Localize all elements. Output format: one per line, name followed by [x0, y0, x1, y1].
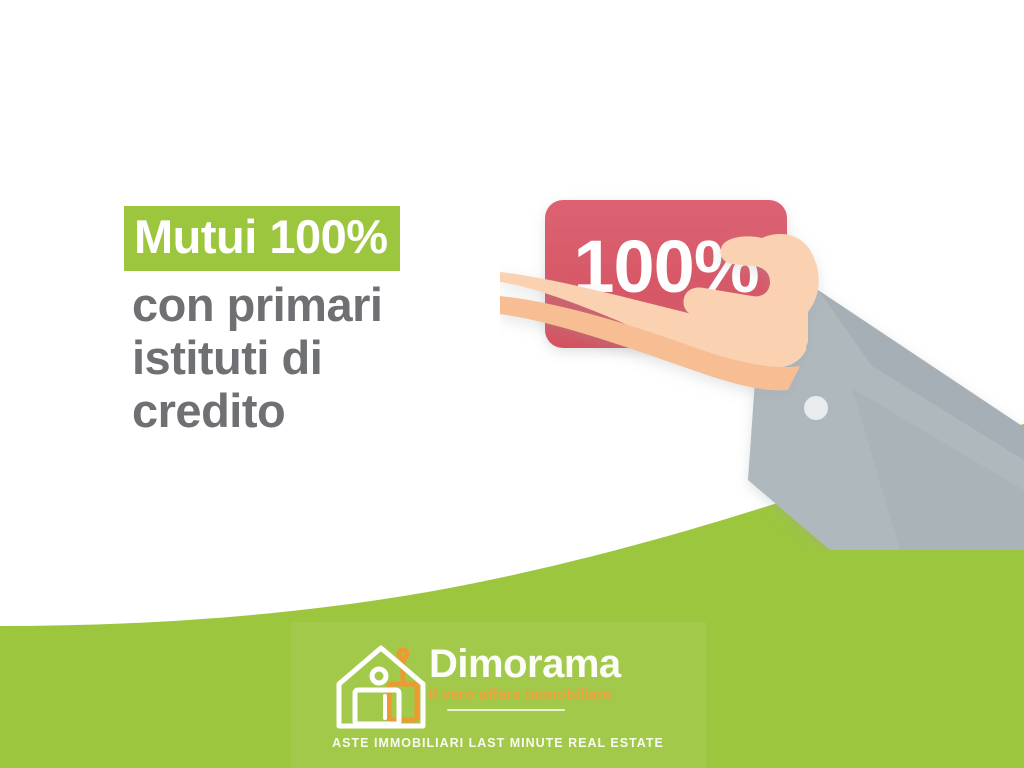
brand-underline-rule — [447, 709, 565, 711]
sleeve-button-icon — [804, 396, 828, 420]
headline-line-3: istituti di — [126, 334, 506, 381]
headline-line-4: credito — [126, 387, 506, 434]
logo-wordmark: Dimorama Il vero affare immobiliare — [429, 644, 689, 711]
brand-logo-lockup: Dimorama Il vero affare immobiliare ASTE… — [291, 622, 706, 768]
brand-name: Dimorama — [429, 644, 689, 684]
hand-holding-percent-card-illustration: 100% — [500, 170, 1024, 550]
headline-highlight-mutui-100: Mutui 100% — [124, 206, 400, 271]
headline-line-2: con primari — [126, 281, 506, 328]
brand-tagline: Il vero affare immobiliare — [429, 687, 689, 704]
logo-inner: Dimorama Il vero affare immobiliare ASTE… — [291, 622, 706, 768]
house-outline-icon — [329, 640, 433, 732]
brand-subtitle: ASTE IMMOBILIARI LAST MINUTE REAL ESTATE — [323, 736, 673, 750]
headline-block: Mutui 100% con primari istituti di credi… — [126, 206, 506, 434]
headline-line-1-wrap: Mutui 100% — [126, 206, 506, 271]
banner-canvas: 100% Mutui 100% con primari istituti di … — [0, 0, 1024, 768]
